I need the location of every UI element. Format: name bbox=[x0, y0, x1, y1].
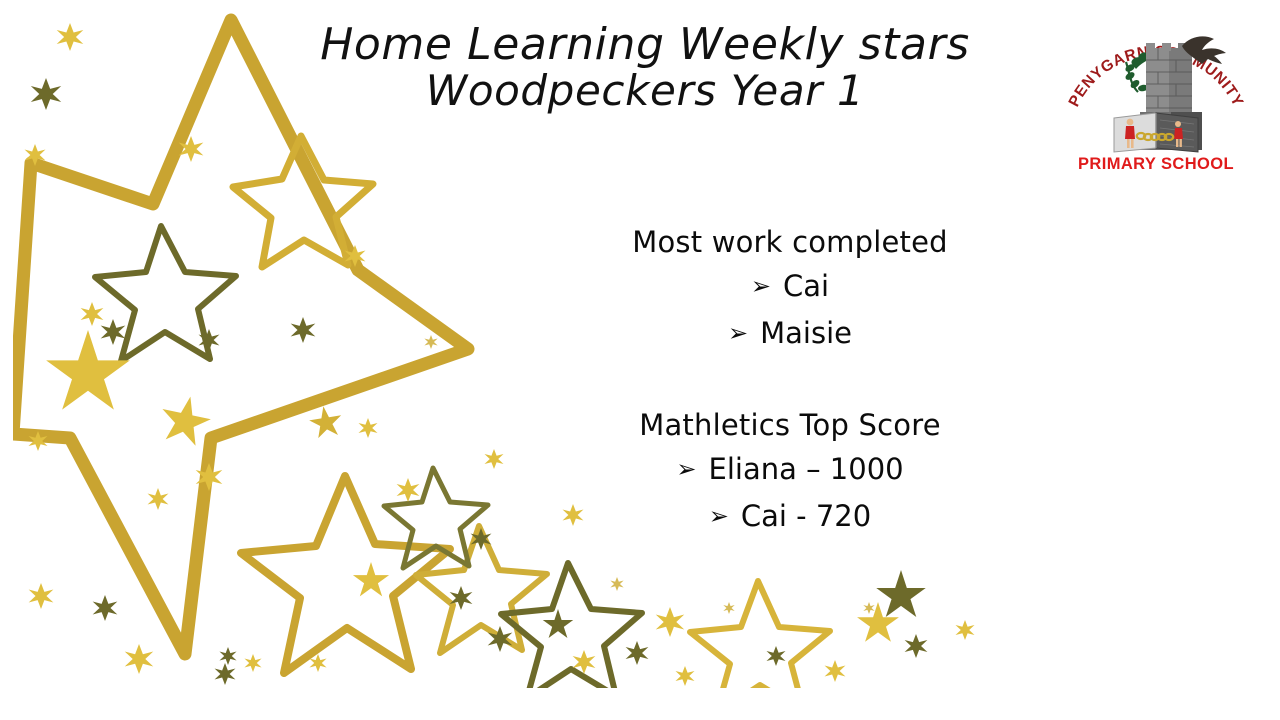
arrow-bullet-icon: ➢ bbox=[728, 314, 748, 353]
outline-star bbox=[241, 476, 450, 673]
small-filled-stars-gold-2 bbox=[307, 404, 344, 439]
arrow-bullet-icon: ➢ bbox=[676, 450, 696, 489]
logo-bottom-text: PRIMARY SCHOOL bbox=[1078, 155, 1234, 173]
arrow-bullet-icon: ➢ bbox=[751, 267, 771, 306]
content-area: Most work completed ➢Cai ➢Maisie Mathlet… bbox=[540, 222, 1040, 540]
title-line-1: Home Learning Weekly stars bbox=[250, 22, 1040, 69]
list-item: ➢Maisie bbox=[540, 310, 1040, 357]
outline-star bbox=[416, 526, 547, 653]
list-item: ➢Cai - 720 bbox=[540, 493, 1040, 540]
section-mathletics-top-score: Mathletics Top Score ➢Eliana – 1000 ➢Cai… bbox=[540, 405, 1040, 540]
title-line-2: Woodpeckers Year 1 bbox=[250, 69, 1040, 114]
list-item-label: Cai - 720 bbox=[741, 499, 871, 533]
outline-star bbox=[233, 136, 373, 267]
castle-tower-icon bbox=[1146, 43, 1192, 116]
list-item-label: Eliana – 1000 bbox=[709, 452, 904, 486]
slide-canvas: Home Learning Weekly stars Woodpeckers Y… bbox=[0, 0, 1280, 720]
outline-star-olive bbox=[501, 563, 642, 688]
arrow-bullet-icon: ➢ bbox=[709, 497, 729, 536]
small-filled-stars-olive bbox=[543, 570, 926, 638]
section-heading: Mathletics Top Score bbox=[540, 405, 1040, 446]
outline-star bbox=[690, 581, 830, 688]
list-item-label: Maisie bbox=[760, 316, 852, 350]
outline-star-olive bbox=[384, 468, 488, 568]
section-heading: Most work completed bbox=[540, 222, 1040, 263]
list-item: ➢Eliana – 1000 bbox=[540, 446, 1040, 493]
section-most-work-completed: Most work completed ➢Cai ➢Maisie bbox=[540, 222, 1040, 357]
list-item: ➢Cai bbox=[540, 263, 1040, 310]
page-title: Home Learning Weekly stars Woodpeckers Y… bbox=[250, 22, 1040, 113]
section-spacer bbox=[540, 357, 1040, 405]
list-item-label: Cai bbox=[783, 269, 829, 303]
large-outline-star bbox=[13, 20, 468, 654]
outline-star-olive bbox=[95, 226, 236, 361]
school-logo: PENYGARN COMMUNITY bbox=[1058, 12, 1254, 174]
